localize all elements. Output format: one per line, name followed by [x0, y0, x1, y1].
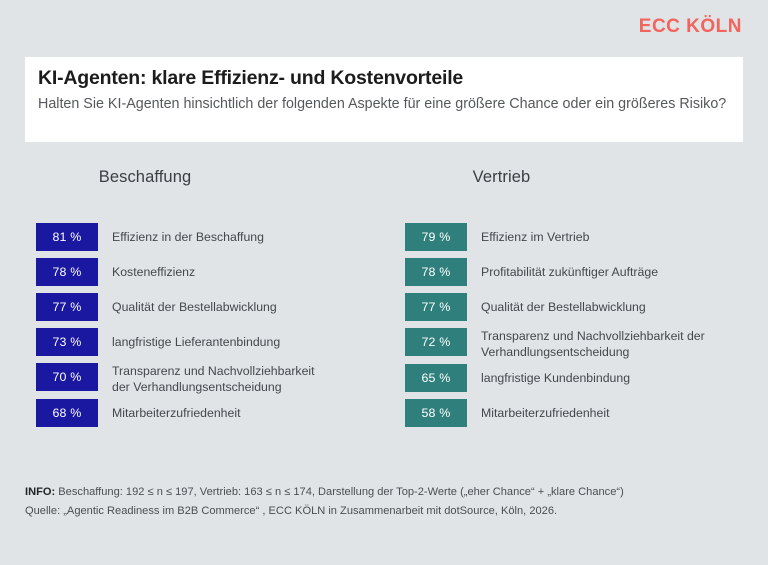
bar-row: 77 %Qualität der Bestellabwicklung [405, 293, 750, 328]
bar-right-1: 79 % [405, 223, 467, 251]
bar-right-2: 78 % [405, 258, 467, 286]
bar-row: 70 %Transparenz und Nachvollziehbarkeitd… [36, 363, 376, 399]
footer-info-label: INFO: [25, 486, 55, 498]
bar-value: 77 % [421, 300, 450, 314]
ecc-koeln-logo: ECC KÖLN [639, 16, 742, 38]
bar-right-3: 77 % [405, 293, 467, 321]
bar-label-line: Mitarbeiterzufriedenheit [481, 406, 610, 422]
bar-value: 77 % [52, 300, 81, 314]
bar-label-line: Mitarbeiterzufriedenheit [112, 406, 241, 422]
bar-label-line: Transparenz und Nachvollziehbarkeit der [481, 329, 705, 345]
bar-label: Transparenz und Nachvollziehbarkeitder V… [98, 363, 315, 395]
bar-left-1: 81 % [36, 223, 98, 251]
bar-value: 73 % [52, 335, 81, 349]
bar-label: Effizienz im Vertrieb [467, 223, 589, 246]
bar-value: 70 % [52, 370, 81, 384]
bar-right-6: 58 % [405, 399, 467, 427]
bar-right-5: 65 % [405, 364, 467, 392]
bar-label: Qualität der Bestellabwicklung [467, 293, 646, 316]
bar-label-line: langfristige Kundenbindung [481, 371, 630, 387]
bar-label-line: langfristige Lieferantenbindung [112, 335, 280, 351]
footer-source-line: Quelle: „Agentic Readiness im B2B Commer… [25, 503, 750, 520]
bar-label-line: Qualität der Bestellabwicklung [481, 300, 646, 316]
bar-row: 65 %langfristige Kundenbindung [405, 364, 750, 399]
column-vertrieb: Vertrieb 79 %Effizienz im Vertrieb78 %Pr… [405, 168, 750, 434]
page-title: KI-Agenten: klare Effizienz- und Kostenv… [38, 66, 743, 90]
bar-label-line: Kosteneffizienz [112, 265, 195, 281]
column-title-beschaffung: Beschaffung [36, 168, 376, 187]
bar-list-vertrieb: 79 %Effizienz im Vertrieb78 %Profitabili… [405, 223, 750, 434]
bar-left-3: 77 % [36, 293, 98, 321]
bar-row: 81 %Effizienz in der Beschaffung [36, 223, 376, 258]
bar-label-line: Verhandlungsentscheidung [481, 345, 705, 361]
bar-row: 78 %Profitabilität zukünftiger Aufträge [405, 258, 750, 293]
bar-value: 72 % [421, 335, 450, 349]
bar-value: 81 % [52, 230, 81, 244]
header-card: KI-Agenten: klare Effizienz- und Kostenv… [25, 57, 743, 142]
bar-label: Transparenz und Nachvollziehbarkeit derV… [467, 328, 705, 360]
bar-row: 58 %Mitarbeiterzufriedenheit [405, 399, 750, 434]
footer-info-text: Beschaffung: 192 ≤ n ≤ 197, Vertrieb: 16… [55, 486, 624, 498]
footer-info-line: INFO: Beschaffung: 192 ≤ n ≤ 197, Vertri… [25, 484, 750, 501]
bar-label: langfristige Kundenbindung [467, 364, 630, 387]
bar-value: 65 % [421, 371, 450, 385]
bar-label-line: Transparenz und Nachvollziehbarkeit [112, 364, 315, 380]
bar-value: 78 % [421, 265, 450, 279]
bar-row: 78 %Kosteneffizienz [36, 258, 376, 293]
bar-label-line: Profitabilität zukünftiger Aufträge [481, 265, 658, 281]
bar-list-beschaffung: 81 %Effizienz in der Beschaffung78 %Kost… [36, 223, 376, 434]
bar-right-4: 72 % [405, 328, 467, 356]
bar-label: Profitabilität zukünftiger Aufträge [467, 258, 658, 281]
bar-row: 72 %Transparenz und Nachvollziehbarkeit … [405, 328, 750, 364]
page-subtitle: Halten Sie KI-Agenten hinsichtlich der f… [38, 95, 728, 115]
bar-label-line: Qualität der Bestellabwicklung [112, 300, 277, 316]
bar-left-2: 78 % [36, 258, 98, 286]
bar-label: Effizienz in der Beschaffung [98, 223, 264, 246]
bar-value: 78 % [52, 265, 81, 279]
bar-value: 58 % [421, 406, 450, 420]
bar-left-5: 70 % [36, 363, 98, 391]
footer-notes: INFO: Beschaffung: 192 ≤ n ≤ 197, Vertri… [25, 484, 750, 520]
bar-value: 79 % [421, 230, 450, 244]
bar-left-4: 73 % [36, 328, 98, 356]
bar-label: Mitarbeiterzufriedenheit [98, 399, 241, 422]
bar-label: Qualität der Bestellabwicklung [98, 293, 277, 316]
bar-label-line: Effizienz in der Beschaffung [112, 230, 264, 246]
bar-value: 68 % [52, 406, 81, 420]
bar-row: 77 %Qualität der Bestellabwicklung [36, 293, 376, 328]
bar-row: 73 %langfristige Lieferantenbindung [36, 328, 376, 363]
bar-row: 79 %Effizienz im Vertrieb [405, 223, 750, 258]
bar-label-line: Effizienz im Vertrieb [481, 230, 589, 246]
bar-row: 68 %Mitarbeiterzufriedenheit [36, 399, 376, 434]
bar-label-line: der Verhandlungsentscheidung [112, 380, 315, 396]
bar-label: Mitarbeiterzufriedenheit [467, 399, 610, 422]
bar-label: Kosteneffizienz [98, 258, 195, 281]
column-beschaffung: Beschaffung 81 %Effizienz in der Beschaf… [36, 168, 376, 434]
bar-left-6: 68 % [36, 399, 98, 427]
bar-label: langfristige Lieferantenbindung [98, 328, 280, 351]
column-title-vertrieb: Vertrieb [405, 168, 750, 187]
